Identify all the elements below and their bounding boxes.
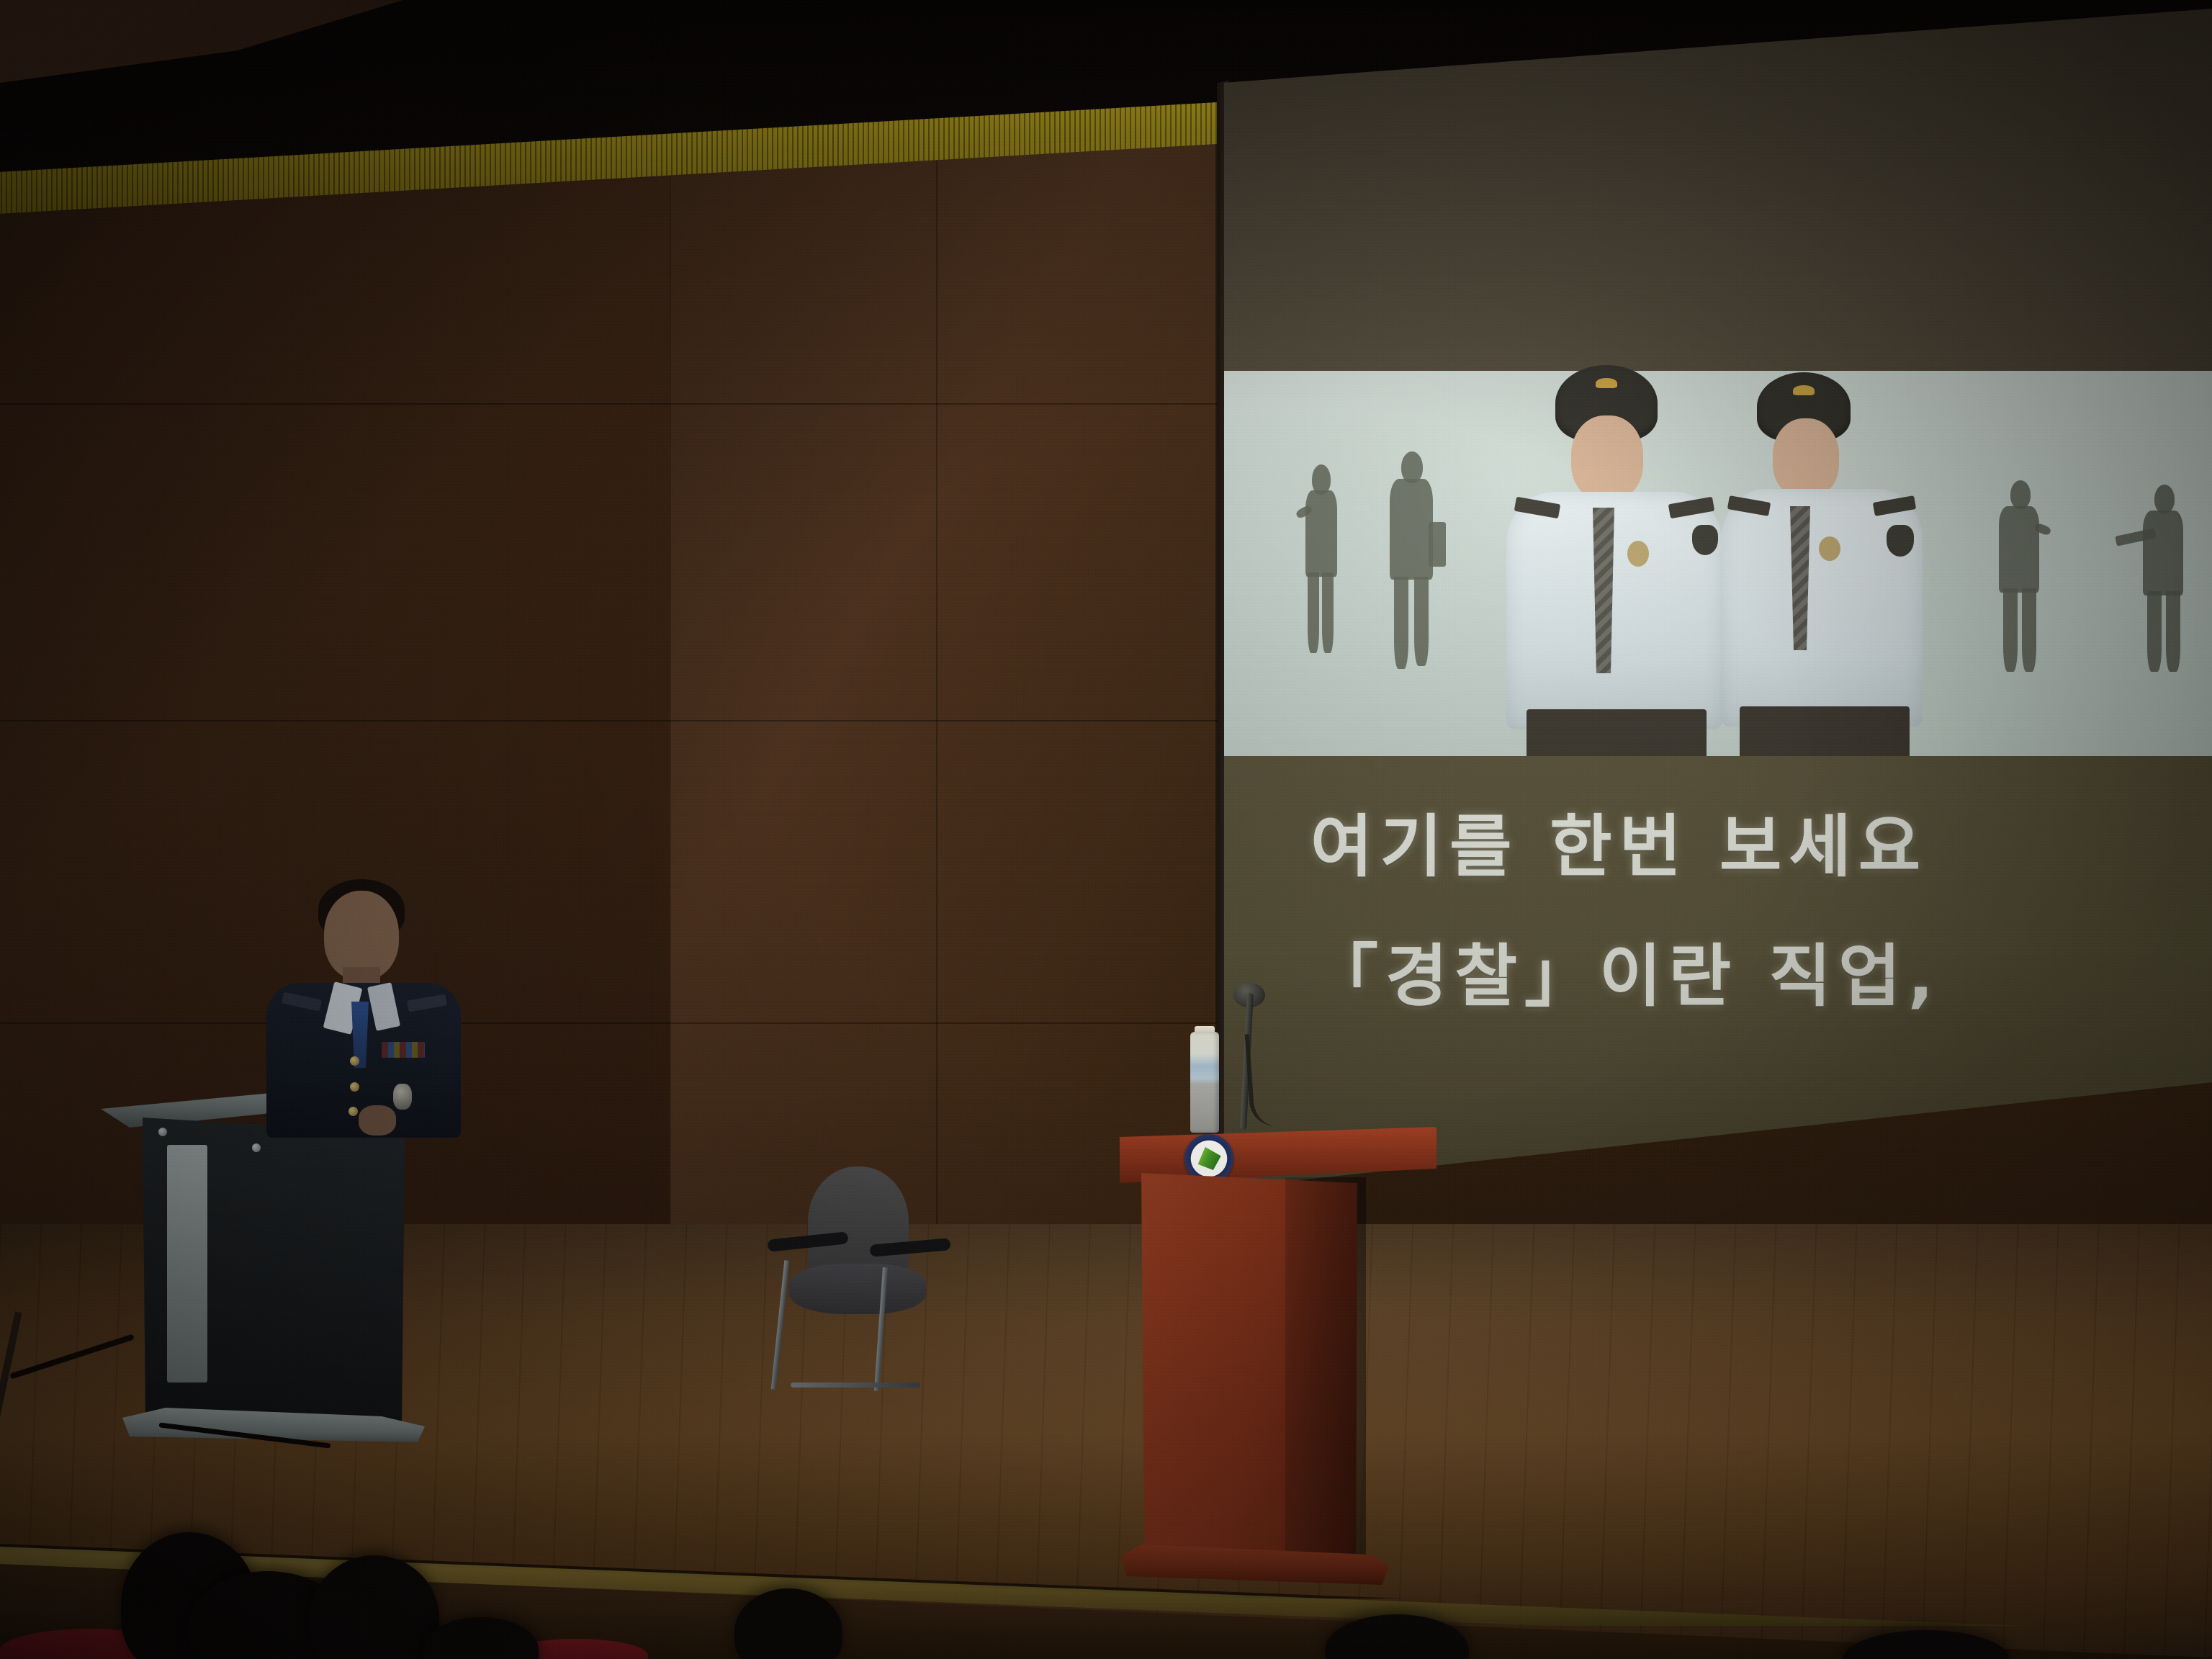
lectern-accent-strip [167,1145,207,1382]
podium-column-shadow [1285,1177,1366,1555]
auditorium-scene: 여기를 한번 보세요 「경찰」이란 직업, [0,0,2212,1659]
wall-seam-3 [0,1022,1224,1024]
slide-photo-area [1224,371,2212,760]
police-officer-speaker [266,875,461,1134]
speaker-service-ribbons [382,1042,425,1058]
wall-seam-1 [0,403,1224,405]
chair-leg-left [771,1260,790,1390]
wall-panel-middle [670,122,1217,1246]
speaker-chest-medal [393,1084,412,1110]
chair-foot-rail [791,1382,920,1388]
chair-seat [789,1264,926,1314]
slide-text-line-2: 「경찰」이란 직업, [1310,922,1941,1020]
wall-seam-2 [0,720,1224,721]
lectern-screw-right [252,1143,261,1152]
projection-screen: 여기를 한번 보세요 「경찰」이란 직업, [1224,7,2212,1188]
speaker-button-3 [349,1107,358,1116]
lectern-screw-left [158,1128,167,1136]
water-bottle[interactable] [1190,1032,1219,1133]
leaf-icon [1194,1143,1225,1174]
wooden-podium[interactable] [1120,1127,1437,1631]
speaker-button-2 [350,1082,359,1092]
stage-chair[interactable] [763,1166,950,1404]
speaker-button-1 [350,1056,359,1066]
wall-seam-vertical-2 [936,144,938,1238]
slide-text-line-1: 여기를 한번 보세요 [1310,792,1928,890]
speaker-hand [359,1105,396,1136]
wall-seam-vertical-1 [670,122,671,1246]
